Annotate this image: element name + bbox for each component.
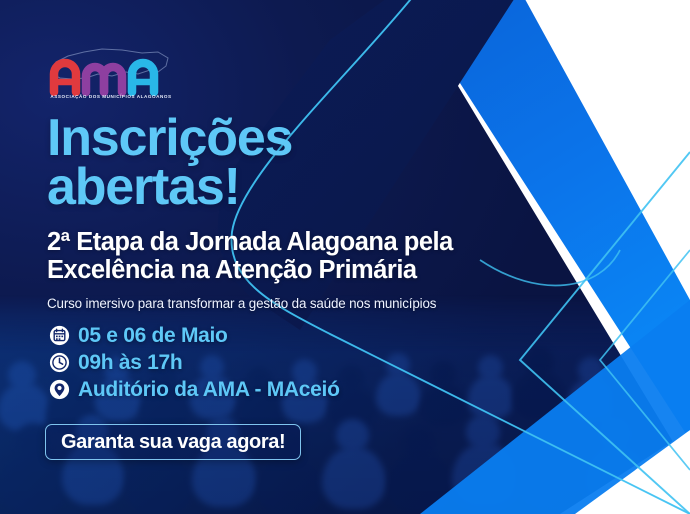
logo-tagline: ASSOCIAÇÃO DOS MUNICÍPIOS ALAGOANOS: [48, 94, 174, 99]
detail-row-location: Auditório da AMA - MAceió: [49, 377, 340, 402]
clock-icon: [49, 352, 70, 373]
detail-text-location: Auditório da AMA - MAceió: [78, 378, 340, 402]
subtitle-line-1: 2ª Etapa da Jornada Alagoana pela: [47, 228, 453, 256]
cta-button[interactable]: Garanta sua vaga agora!: [45, 424, 301, 460]
detail-text-time: 09h às 17h: [78, 351, 182, 375]
calendar-icon: [49, 325, 70, 346]
event-promo-banner: ASSOCIAÇÃO DOS MUNICÍPIOS ALAGOANOS Insc…: [0, 0, 690, 514]
ama-logo: ASSOCIAÇÃO DOS MUNICÍPIOS ALAGOANOS: [46, 46, 176, 104]
event-details-list: 05 e 06 de Maio 09h às 17h: [49, 323, 340, 404]
headline-line-2: abertas!: [47, 163, 567, 212]
subtitle-line-2: Excelência na Atenção Primária: [47, 256, 567, 284]
content-block: Inscrições abertas! 2ª Etapa da Jornada …: [47, 114, 567, 311]
event-subtitle: 2ª Etapa da Jornada Alagoana pela Excelê…: [47, 228, 567, 284]
page-title: Inscrições abertas!: [47, 114, 567, 212]
location-pin-icon: [49, 379, 70, 400]
event-tagline: Curso imersivo para transformar a gestão…: [47, 296, 567, 311]
detail-row-date: 05 e 06 de Maio: [49, 323, 340, 348]
detail-row-time: 09h às 17h: [49, 350, 340, 375]
detail-text-date: 05 e 06 de Maio: [78, 324, 228, 348]
